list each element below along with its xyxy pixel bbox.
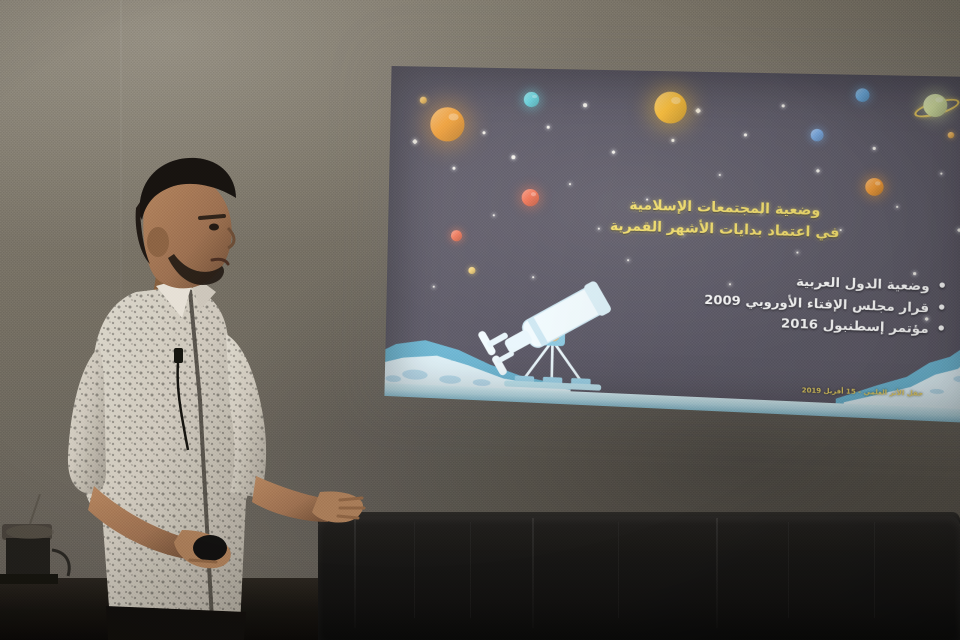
lapel-microphone — [174, 348, 183, 363]
telescope-illustration — [471, 250, 633, 400]
planet-body — [430, 106, 465, 141]
star — [583, 103, 587, 107]
sofa-fabric-fold — [618, 522, 619, 618]
right-hand-open — [312, 491, 364, 522]
ringed-planet — [923, 93, 947, 116]
star — [453, 167, 456, 170]
star — [598, 228, 600, 230]
sun-planet-center — [654, 91, 687, 123]
star — [719, 174, 721, 176]
star — [671, 139, 674, 142]
planet-body — [811, 129, 824, 142]
star — [569, 183, 572, 186]
sofa-fabric-fold — [414, 522, 415, 618]
star — [412, 138, 418, 144]
star — [940, 173, 942, 175]
planet-body — [855, 88, 869, 102]
slide-bullet-list: وضعية الدول العربية قرار مجلس الإفتاء ال… — [704, 268, 948, 340]
star — [781, 104, 784, 107]
planet-body — [865, 178, 884, 196]
planet-body — [524, 92, 540, 108]
moon-surface-right — [836, 331, 960, 413]
star — [872, 147, 875, 150]
star — [840, 229, 842, 231]
projected-slide: وضعية المجتمعات الإسلامية في اعتماد بداي… — [384, 66, 960, 424]
eye — [209, 224, 219, 231]
orange-planet-right — [865, 178, 884, 196]
sofa — [318, 500, 960, 640]
red-planet-left — [522, 189, 540, 207]
star — [816, 169, 821, 173]
presentation-clicker — [193, 535, 227, 561]
star — [492, 214, 495, 217]
star — [895, 206, 898, 209]
sofa-cushion-seam — [532, 518, 534, 628]
planet-body — [419, 96, 426, 103]
cyan-planet-top — [524, 92, 540, 108]
presentation-room-scene: وضعية المجتمعات الإسلامية في اعتماد بداي… — [0, 0, 960, 640]
sofa-fabric-fold — [470, 522, 471, 618]
star — [511, 155, 515, 159]
blue-planet-right — [855, 88, 869, 102]
star — [744, 134, 747, 137]
star — [482, 131, 485, 134]
ear — [147, 227, 169, 257]
planet-body — [451, 230, 462, 241]
sofa-fabric-fold — [874, 522, 875, 618]
star — [796, 251, 798, 253]
amber-dot-right — [947, 132, 954, 138]
presenter-person — [40, 150, 370, 640]
planet-body — [522, 189, 540, 207]
star — [695, 108, 701, 114]
blue-planet-mid — [811, 129, 824, 142]
eyebrow — [200, 216, 224, 218]
presenter-figure — [40, 150, 370, 640]
amber-dot-left — [419, 96, 426, 103]
star — [547, 126, 550, 129]
star — [433, 285, 435, 287]
red-planet-small — [451, 230, 462, 241]
star — [611, 150, 615, 154]
orange-planet-left — [430, 106, 465, 141]
sofa-cushion-seam — [716, 518, 718, 628]
slide-title: وضعية المجتمعات الإسلامية في اعتماد بداي… — [610, 195, 841, 245]
planet-body — [654, 91, 687, 123]
sofa-fabric-fold — [788, 522, 789, 618]
slide-canvas: وضعية المجتمعات الإسلامية في اعتماد بداي… — [384, 66, 960, 424]
planet-body — [923, 93, 947, 116]
planet-body — [947, 132, 954, 138]
